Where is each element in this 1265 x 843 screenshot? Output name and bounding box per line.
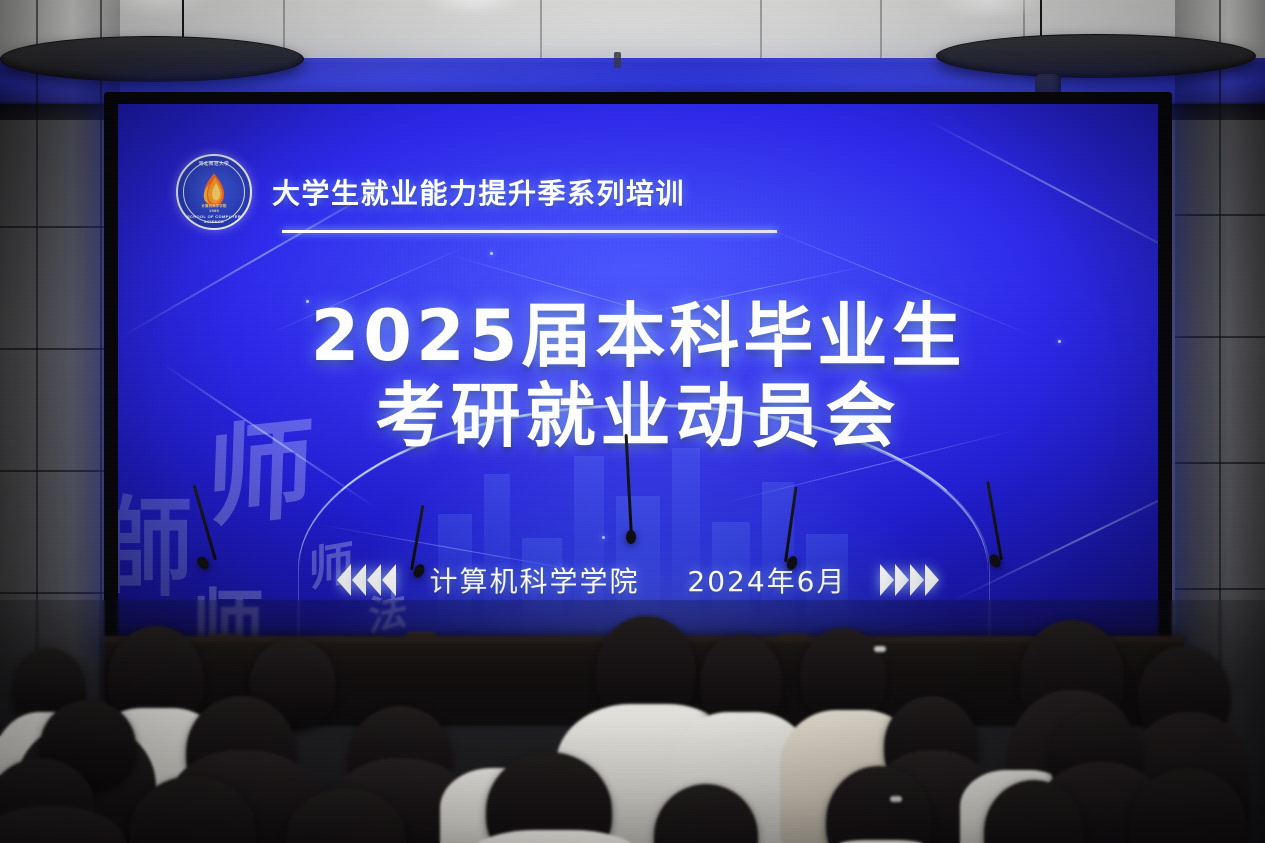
screenshot-root: 师 師 师 师 法 河北师范大学 计算机科学学院 1985 SCHOOL OF …: [0, 0, 1265, 843]
sprinkler-head-icon: [614, 52, 621, 68]
screen-vignette: [118, 104, 1158, 646]
led-video-wall[interactable]: 师 師 师 师 法 河北师范大学 计算机科学学院 1985 SCHOOL OF …: [118, 104, 1158, 646]
audience-area: [0, 600, 1265, 843]
baffle-rod: [1040, 0, 1042, 36]
ceiling-baffle-right: [936, 34, 1256, 78]
ceiling-baffle-left: [0, 36, 304, 82]
hair-clip-icon: [890, 796, 902, 802]
hair-clip-icon: [874, 646, 886, 652]
baffle-rod: [182, 0, 184, 40]
